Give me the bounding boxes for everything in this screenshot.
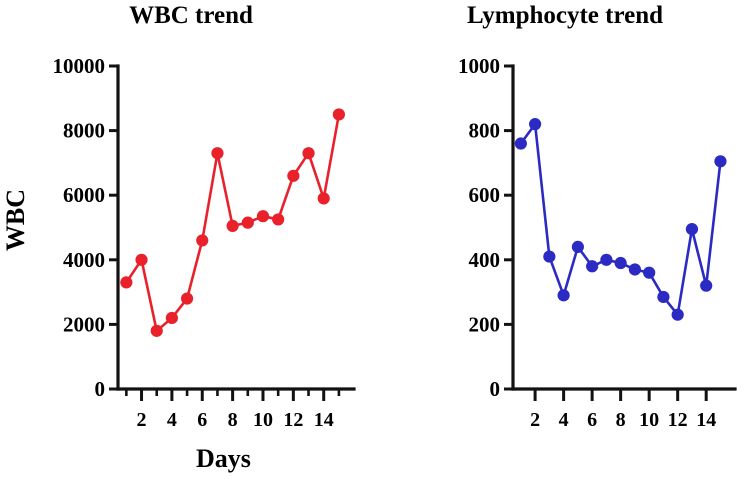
- x-tick-label: 2: [530, 409, 540, 431]
- data-point: [242, 217, 254, 229]
- y-tick-label: 0: [490, 377, 501, 401]
- y-tick-label: 200: [469, 312, 501, 336]
- y-tick-label: 1000: [458, 54, 500, 78]
- data-point: [211, 147, 223, 159]
- data-point: [586, 260, 598, 272]
- data-point: [227, 220, 239, 232]
- y-tick-label: 0: [95, 377, 106, 401]
- x-tick-label: 4: [559, 409, 569, 431]
- series-line-lymph: [521, 124, 721, 315]
- data-point: [686, 223, 698, 235]
- y-tick-label: 800: [469, 119, 501, 143]
- data-point: [120, 276, 132, 288]
- data-point: [287, 170, 299, 182]
- x-tick-label: 8: [228, 409, 238, 431]
- x-tick-label: 12: [668, 409, 688, 431]
- x-tick-label: 12: [283, 409, 303, 431]
- data-point: [181, 292, 193, 304]
- data-point: [643, 267, 655, 279]
- x-tick-label: 10: [253, 409, 273, 431]
- data-point: [318, 192, 330, 204]
- y-tick-label: 400: [469, 248, 501, 272]
- data-point: [672, 309, 684, 321]
- figure-two-panel-trend-charts: WBC trend WBC Days 020004000600080001000…: [0, 0, 744, 483]
- data-point: [700, 280, 712, 292]
- x-tick-label: 6: [587, 409, 597, 431]
- y-tick-label: 600: [469, 183, 501, 207]
- data-point: [196, 234, 208, 246]
- x-tick-label: 8: [616, 409, 626, 431]
- data-point: [714, 155, 726, 167]
- plot-area-wbc: 02000400060008000100002468101214: [0, 0, 372, 483]
- data-point: [543, 250, 555, 262]
- y-tick-label: 6000: [63, 183, 105, 207]
- y-tick-label: 10000: [53, 54, 106, 78]
- data-point: [166, 312, 178, 324]
- plot-area-lymph: 020040060080010002468101214: [372, 0, 744, 483]
- data-point: [302, 147, 314, 159]
- data-point: [257, 210, 269, 222]
- chart-panel-wbc: WBC trend WBC Days 020004000600080001000…: [0, 0, 372, 483]
- data-point: [629, 263, 641, 275]
- data-point: [657, 291, 669, 303]
- x-tick-label: 10: [639, 409, 659, 431]
- data-point: [600, 254, 612, 266]
- data-point: [515, 137, 527, 149]
- x-tick-label: 6: [197, 409, 207, 431]
- x-tick-label: 14: [696, 409, 716, 431]
- x-tick-label: 4: [167, 409, 177, 431]
- data-point: [135, 254, 147, 266]
- data-point: [151, 325, 163, 337]
- y-tick-label: 8000: [63, 119, 105, 143]
- x-tick-label: 14: [314, 409, 334, 431]
- chart-panel-lymph: Lymphocyte trend Lymph Days 020040060080…: [372, 0, 744, 483]
- data-point: [558, 289, 570, 301]
- y-tick-label: 2000: [63, 312, 105, 336]
- data-point: [572, 241, 584, 253]
- x-tick-label: 2: [137, 409, 147, 431]
- data-point: [529, 118, 541, 130]
- y-tick-label: 4000: [63, 248, 105, 272]
- data-point: [333, 108, 345, 120]
- data-point: [272, 213, 284, 225]
- data-point: [615, 257, 627, 269]
